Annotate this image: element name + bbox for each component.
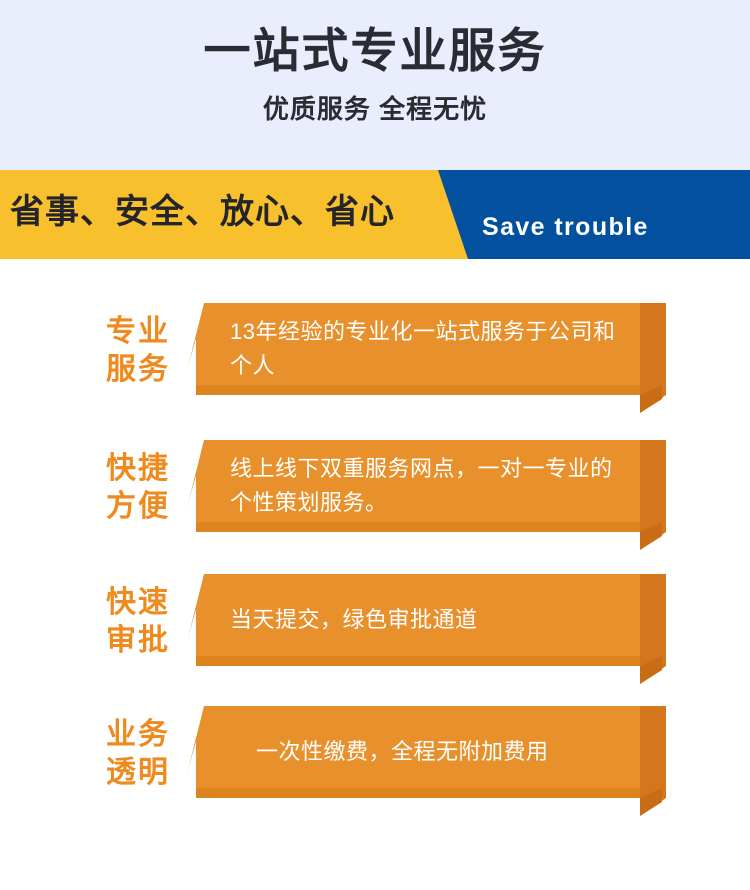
feature-card: 线上线下双重服务网点，一对一专业的个性策划服务。 快捷 方便 [0, 422, 750, 562]
ribbon-body: 线上线下双重服务网点，一对一专业的个性策划服务。 [196, 440, 644, 532]
ribbon-body: 13年经验的专业化一站式服务于公司和个人 [196, 303, 644, 395]
feature-description: 13年经验的专业化一站式服务于公司和个人 [196, 303, 644, 395]
banner-chinese-text: 省事、安全、放心、省心 [10, 188, 395, 236]
feature-card-list: 13年经验的专业化一站式服务于公司和个人 专业 服务 线上线下双重服务网点，一对… [0, 259, 750, 890]
ribbon-body: 当天提交，绿色审批通道 [196, 574, 644, 666]
ribbon-body: 一次性缴费，全程无附加费用 [196, 706, 644, 798]
feature-description: 当天提交，绿色审批通道 [196, 574, 644, 666]
feature-tab-shape [68, 690, 208, 818]
feature-tab-shape [68, 424, 208, 552]
highlight-banner: 省事、安全、放心、省心 Save trouble [0, 170, 750, 259]
feature-description: 一次性缴费，全程无附加费用 [196, 706, 644, 798]
feature-description: 线上线下双重服务网点，一对一专业的个性策划服务。 [196, 440, 644, 532]
promo-page: 一站式专业服务 优质服务 全程无忧 省事、安全、放心、省心 Save troub… [0, 0, 750, 890]
page-subtitle: 优质服务 全程无忧 [0, 92, 750, 126]
feature-tab-shape [68, 287, 208, 415]
ribbon-bottom-strip [196, 656, 644, 666]
page-header: 一站式专业服务 优质服务 全程无忧 [0, 0, 750, 170]
ribbon-bottom-strip [196, 385, 644, 395]
page-title: 一站式专业服务 [0, 22, 750, 80]
feature-card: 当天提交，绿色审批通道 快速 审批 [0, 556, 750, 696]
feature-card: 一次性缴费，全程无附加费用 业务 透明 [0, 688, 750, 828]
feature-tab-shape [68, 558, 208, 686]
banner-english-text: Save trouble [482, 210, 649, 244]
ribbon-bottom-strip [196, 788, 644, 798]
feature-card: 13年经验的专业化一站式服务于公司和个人 专业 服务 [0, 285, 750, 425]
ribbon-bottom-strip [196, 522, 644, 532]
